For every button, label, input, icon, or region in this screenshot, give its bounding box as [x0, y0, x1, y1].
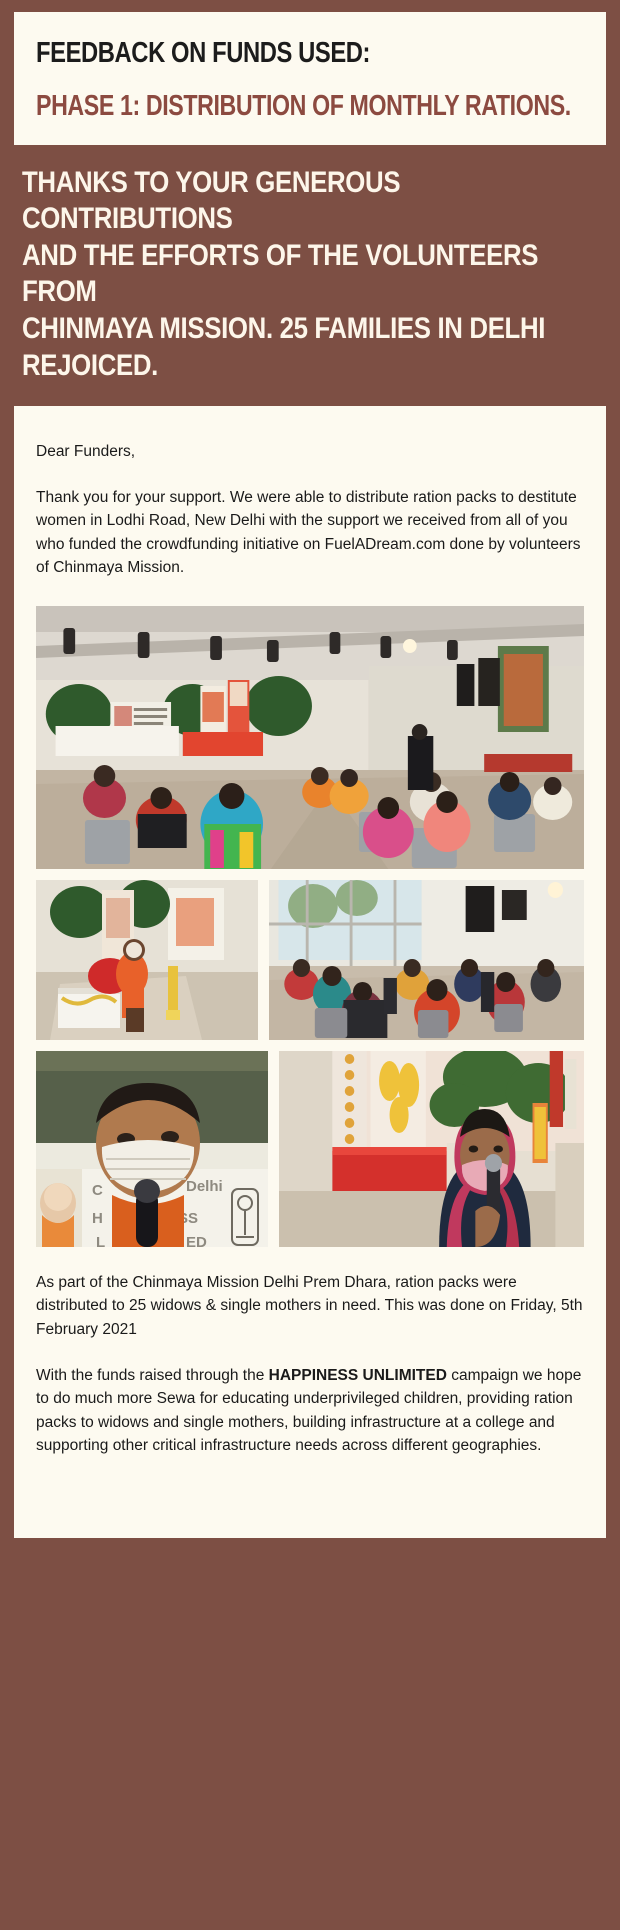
svg-text:ED: ED — [186, 1234, 207, 1247]
thanks-banner: THANKS TO YOUR GENEROUS CONTRIBUTIONS AN… — [14, 145, 606, 407]
future-plans-pre: With the funds raised through the — [36, 1367, 269, 1384]
thanks-banner-line-1: THANKS TO YOUR GENEROUS CONTRIBUTIONS — [22, 165, 583, 238]
intro-paragraph: Thank you for your support. We were able… — [36, 486, 584, 580]
future-plans-paragraph: With the funds raised through the HAPPIN… — [36, 1364, 584, 1458]
photo-gallery: C Delhi H SS L ED — [36, 606, 584, 1247]
title-card: FEEDBACK ON FUNDS USED: PHASE 1: DISTRIB… — [14, 12, 606, 145]
photo-row-2 — [36, 880, 584, 1040]
photo-row-3: C Delhi H SS L ED — [36, 1051, 584, 1247]
thanks-banner-line-4: REJOICED. — [22, 348, 583, 385]
campaign-name: HAPPINESS UNLIMITED — [269, 1367, 447, 1384]
photo-row-1 — [36, 606, 584, 869]
svg-text:H: H — [92, 1210, 103, 1227]
page-title: FEEDBACK ON FUNDS USED: — [36, 38, 485, 69]
letter-body: Dear Funders, Thank you for your support… — [14, 406, 606, 1538]
photo-hall-audience-wide[interactable] — [36, 606, 584, 869]
salutation: Dear Funders, — [36, 440, 584, 464]
page-subtitle: PHASE 1: DISTRIBUTION OF MONTHLY RATIONS… — [36, 91, 474, 122]
svg-text:L: L — [96, 1234, 105, 1247]
thanks-banner-line-3: CHINMAYA MISSION. 25 FAMILIES IN DELHI — [22, 311, 583, 348]
photo-woman-speaking-mic[interactable] — [279, 1051, 584, 1247]
body-bottom-spacer — [36, 1480, 584, 1508]
feedback-update-page: FEEDBACK ON FUNDS USED: PHASE 1: DISTRIB… — [0, 0, 620, 1930]
svg-text:C: C — [92, 1182, 103, 1199]
svg-text:Delhi: Delhi — [186, 1178, 223, 1195]
thanks-banner-line-2: AND THE EFFORTS OF THE VOLUNTEERS FROM — [22, 238, 583, 311]
photo-stage-swami-seated[interactable] — [36, 880, 258, 1040]
photo-lobby-beneficiaries[interactable] — [269, 880, 584, 1040]
photo-speaker-masked-banner[interactable]: C Delhi H SS L ED — [36, 1051, 268, 1247]
distribution-paragraph: As part of the Chinmaya Mission Delhi Pr… — [36, 1271, 584, 1342]
